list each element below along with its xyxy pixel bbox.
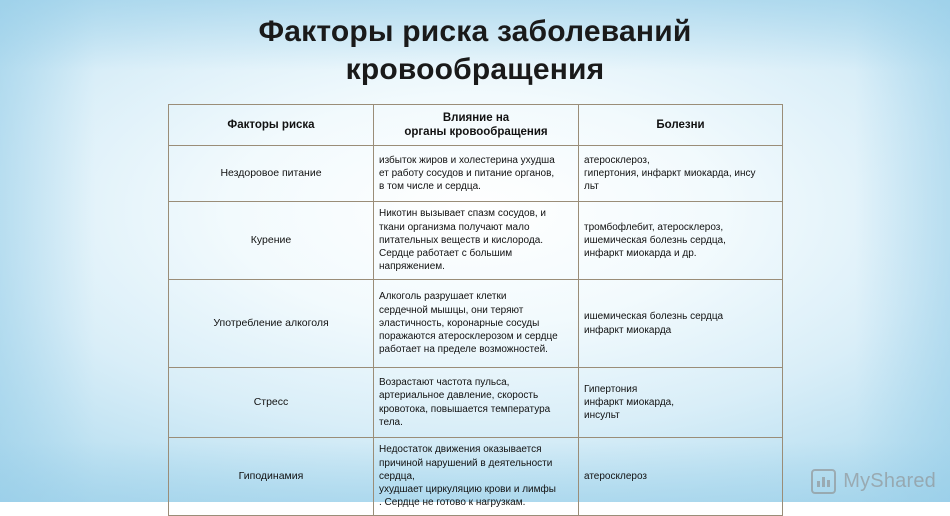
cell-influence-line: поражаются атеросклерозом и сердце [379,330,573,343]
slide-canvas: Факторы риска заболеваний кровообращения… [0,0,950,502]
cell-disease-line: Гипертония [584,383,777,396]
table-row: Курение Никотин вызывает спазм сосудов, … [169,202,783,280]
cell-influence-line: Недостаток движения оказывается [379,443,573,456]
cell-influence-line: работает на пределе возможностей. [379,343,573,356]
risk-factors-table: Факторы риска Влияние на органы кровообр… [168,104,783,516]
page-title-line-1: Факторы риска заболеваний [0,13,950,51]
cell-influence-line: напряжением. [379,260,573,273]
cell-disease: ишемическая болезнь сердца инфаркт миока… [579,280,783,368]
cell-influence-line: ухудшает циркуляцию крови и лимфы [379,483,573,496]
cell-influence-line: Возрастают частота пульса, [379,376,573,389]
cell-disease-line: инсульт [584,409,777,422]
column-header-disease: Болезни [579,105,783,146]
cell-influence-line: питательных веществ и кислорода. [379,234,573,247]
cell-influence-line: эластичность, коронарные сосуды [379,317,573,330]
cell-influence: Алкоголь разрушает клетки сердечной мышц… [374,280,579,368]
column-header-influence: Влияние на органы кровообращения [374,105,579,146]
column-header-influence-line-2: органы кровообращения [379,125,573,139]
table-header-row: Факторы риска Влияние на органы кровообр… [169,105,783,146]
cell-disease-line: гипертония, инфаркт миокарда, инсу [584,167,777,180]
cell-influence-line: в том числе и сердца. [379,180,573,193]
cell-factor: Употребление алкоголя [169,280,374,368]
cell-factor: Гиподинамия [169,438,374,516]
cell-influence-line: Никотин вызывает спазм сосудов, и [379,207,573,220]
cell-disease-line: инфаркт миокарда [584,324,777,337]
cell-disease: атеросклероз [579,438,783,516]
cell-influence-line: ткани организма получают мало [379,221,573,234]
cell-influence: избыток жиров и холестерина ухудша ет ра… [374,146,579,202]
table-row: Гиподинамия Недостаток движения оказывае… [169,438,783,516]
cell-influence-line: избыток жиров и холестерина ухудша [379,154,573,167]
watermark-label: MyShared [843,470,936,493]
table-body: Нездоровое питание избыток жиров и холес… [169,146,783,516]
column-header-influence-line-1: Влияние на [379,111,573,125]
cell-disease-line: тромбофлебит, атеросклероз, [584,221,777,234]
cell-factor: Курение [169,202,374,280]
cell-disease-line: инфаркт миокарда, [584,396,777,409]
cell-disease: Гипертония инфаркт миокарда, инсульт [579,368,783,438]
cell-influence-line: ет работу сосудов и питание органов, [379,167,573,180]
cell-influence: Возрастают частота пульса, артериальное … [374,368,579,438]
watermark: MyShared [811,469,936,494]
cell-factor: Стресс [169,368,374,438]
column-header-factor: Факторы риска [169,105,374,146]
cell-factor: Нездоровое питание [169,146,374,202]
cell-disease-line: атеросклероз [584,470,777,483]
cell-influence: Никотин вызывает спазм сосудов, и ткани … [374,202,579,280]
page-title: Факторы риска заболеваний кровообращения [0,0,950,90]
cell-disease-line: льт [584,180,777,193]
cell-influence-line: причиной нарушений в деятельности [379,457,573,470]
cell-disease: тромбофлебит, атеросклероз, ишемическая … [579,202,783,280]
bar-chart-icon [811,469,836,494]
table-row: Стресс Возрастают частота пульса, артери… [169,368,783,438]
cell-disease: атеросклероз, гипертония, инфаркт миокар… [579,146,783,202]
cell-influence-line: сердца, [379,470,573,483]
cell-influence-line: сердечной мышцы, они теряют [379,304,573,317]
table-row: Нездоровое питание избыток жиров и холес… [169,146,783,202]
cell-disease-line: ишемическая болезнь сердца [584,310,777,323]
cell-disease-line: атеросклероз, [584,154,777,167]
cell-influence-line: артериальное давление, скорость [379,389,573,402]
cell-influence-line: тела. [379,416,573,429]
cell-influence: Недостаток движения оказывается причиной… [374,438,579,516]
table-header: Факторы риска Влияние на органы кровообр… [169,105,783,146]
table-row: Употребление алкоголя Алкоголь разрушает… [169,280,783,368]
page-title-line-2: кровообращения [0,51,950,89]
cell-influence-line: Сердце работает с большим [379,247,573,260]
cell-disease-line: ишемическая болезнь сердца, [584,234,777,247]
cell-influence-line: кровотока, повышается температура [379,403,573,416]
cell-disease-line: инфаркт миокарда и др. [584,247,777,260]
cell-influence-line: . Сердце не готово к нагрузкам. [379,496,573,509]
cell-influence-line: Алкоголь разрушает клетки [379,290,573,303]
